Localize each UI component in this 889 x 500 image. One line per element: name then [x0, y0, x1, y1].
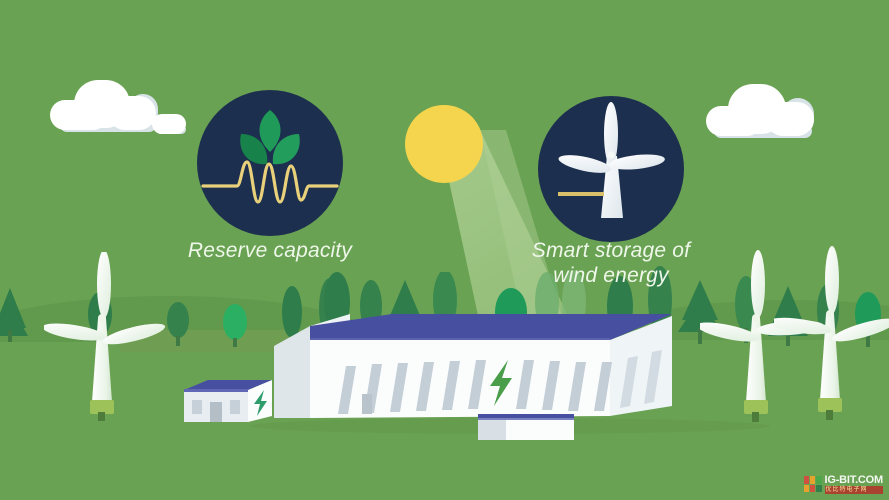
tree-pine: [0, 288, 28, 342]
wind-turbine-left: [44, 252, 168, 428]
wind-turbine-right-far: [774, 246, 889, 426]
loading-dock: [478, 414, 574, 440]
cloud-puff: [108, 96, 156, 130]
wind-turbine-icon: [538, 96, 684, 242]
turbine-hub: [607, 151, 614, 158]
turbine-blades: [774, 246, 889, 346]
leaf-cluster: [240, 110, 300, 164]
cloud-large-left: [50, 78, 160, 130]
sine-waveform: [203, 162, 337, 202]
tree-round-light: [223, 304, 247, 347]
watermark: IG-BIT.COM 优比特电子网: [804, 474, 884, 494]
turbine-hub: [752, 314, 760, 322]
badge-label-smart-storage: Smart storage of wind energy: [511, 238, 711, 288]
cloud-puff: [766, 102, 814, 136]
battery-storage-plant: [272, 310, 672, 440]
watermark-sub-text: 优比特电子网: [825, 486, 884, 494]
watermark-main-text: IG-BIT.COM: [825, 475, 884, 486]
mosaic-logo-icon: [804, 476, 822, 492]
turbine-blades: [557, 102, 665, 176]
cloud-puff: [152, 114, 186, 134]
gold-dash: [558, 192, 604, 196]
sun: [405, 105, 483, 183]
cloud-large-right: [706, 84, 816, 136]
badge-reserve-capacity[interactable]: [197, 90, 343, 236]
turbine-hub: [98, 314, 106, 322]
leaves-waveform-icon: [197, 90, 343, 236]
turbine-hub: [826, 310, 834, 318]
tree-round: [167, 302, 189, 346]
substation-house: [178, 376, 278, 424]
badge-label-reserve-capacity: Reserve capacity: [170, 238, 370, 263]
badge-smart-storage[interactable]: [538, 96, 684, 242]
cloud-small-left: [152, 114, 186, 134]
illustration-canvas: Reserve capacity Smart storage of wind e…: [0, 0, 889, 500]
